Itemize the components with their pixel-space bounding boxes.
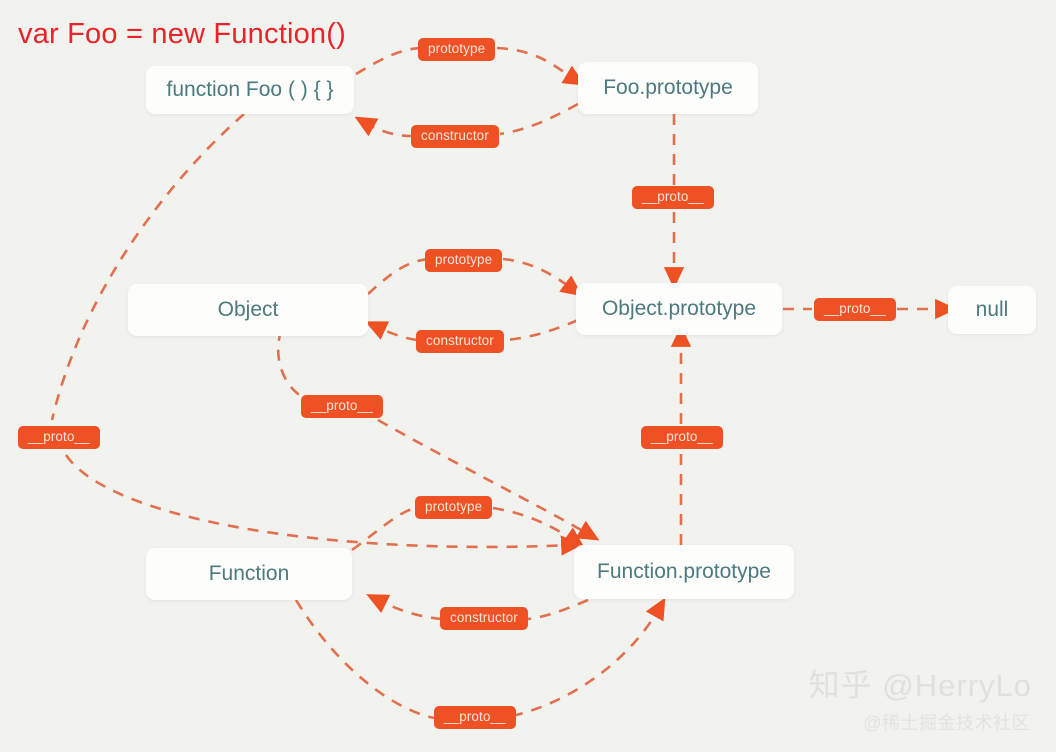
edge-function-to-funcproto-2 (512, 607, 660, 716)
node-function-foo[interactable]: function Foo ( ) { } (146, 66, 354, 114)
node-function[interactable]: Function (146, 548, 352, 600)
edge-object-constructor-2 (375, 326, 417, 340)
label-function-proto: __proto__ (434, 706, 516, 729)
label-object-proto: __proto__ (301, 395, 383, 418)
edge-foo-prototype-2 (497, 48, 576, 80)
node-function-label: Function (209, 562, 290, 586)
label-object-constructor-text: constructor (426, 333, 494, 348)
label-foo-prototype: prototype (418, 38, 495, 61)
label-function-proto-text: __proto__ (444, 709, 506, 724)
label-funcproto-objproto-proto-text: __proto__ (651, 429, 713, 444)
edge-foofn-to-funcproto (52, 114, 244, 420)
page-title: var Foo = new Function() (18, 18, 346, 51)
label-foo-constructor: constructor (411, 125, 499, 148)
label-function-prototype: prototype (415, 496, 492, 519)
label-function-constructor-text: constructor (450, 610, 518, 625)
edge-object-to-funcproto (278, 330, 304, 398)
edge-foo-prototype (356, 48, 424, 74)
label-funcproto-objproto-proto: __proto__ (641, 426, 723, 449)
prototype-chain-diagram: var Foo = new Function() Foo.prototype (… (0, 0, 1056, 752)
edge-foo-constructor-2 (364, 122, 413, 136)
label-object-prototype: prototype (425, 249, 502, 272)
label-objproto-null-proto: __proto__ (814, 298, 896, 321)
edge-function-to-funcproto (296, 600, 434, 718)
watermark-main: 知乎 @HerryLo (809, 660, 1032, 705)
edge-function-constructor-2 (376, 599, 442, 619)
label-foo-prototype-text: prototype (428, 41, 485, 56)
label-objproto-null-proto-text: __proto__ (824, 301, 886, 316)
label-fooproto-proto-text: __proto__ (642, 189, 704, 204)
edge-object-prototype (368, 259, 428, 294)
node-function-prototype[interactable]: Function.prototype (574, 545, 794, 599)
node-null-label: null (976, 298, 1009, 322)
label-foo-constructor-text: constructor (421, 128, 489, 143)
edge-function-prototype-2 (493, 508, 576, 542)
node-object[interactable]: Object (128, 284, 368, 336)
edge-foofn-to-funcproto-2 (66, 455, 572, 547)
label-function-constructor: constructor (440, 607, 528, 630)
node-foo-prototype[interactable]: Foo.prototype (578, 62, 758, 114)
node-function-prototype-label: Function.prototype (597, 560, 771, 584)
label-foofn-proto: __proto__ (18, 426, 100, 449)
watermark-sub: @稀土掘金技术社区 (863, 709, 1030, 735)
label-function-prototype-text: prototype (425, 499, 482, 514)
edge-function-prototype (352, 507, 418, 550)
node-foo-prototype-label: Foo.prototype (603, 76, 733, 100)
node-object-prototype[interactable]: Object.prototype (576, 283, 782, 335)
label-object-prototype-text: prototype (435, 252, 492, 267)
node-object-label: Object (218, 298, 279, 322)
edge-object-constructor (506, 320, 578, 340)
node-function-foo-label: function Foo ( ) { } (167, 78, 334, 102)
label-foofn-proto-text: __proto__ (28, 429, 90, 444)
node-object-prototype-label: Object.prototype (602, 297, 756, 321)
label-fooproto-proto: __proto__ (632, 186, 714, 209)
label-object-proto-text: __proto__ (311, 398, 373, 413)
node-null[interactable]: null (948, 286, 1036, 334)
edge-function-constructor (528, 600, 588, 619)
label-object-constructor: constructor (416, 330, 504, 353)
edge-foo-constructor (500, 104, 578, 134)
edge-object-prototype-2 (503, 259, 574, 290)
